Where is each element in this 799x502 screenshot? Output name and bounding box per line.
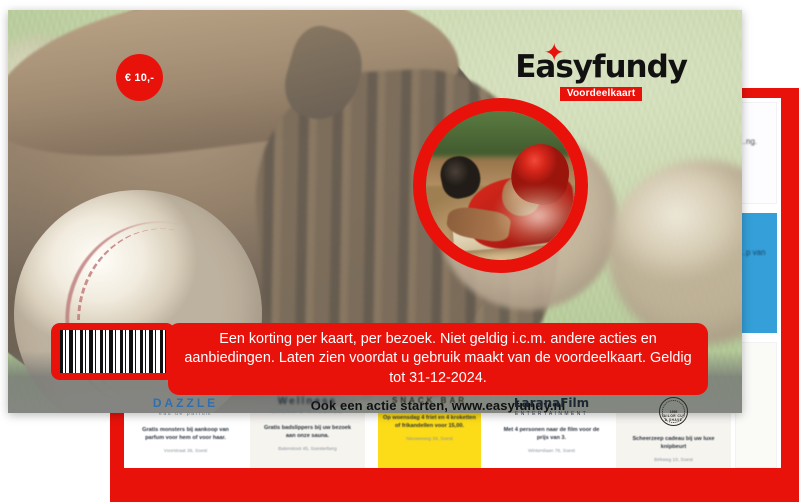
coupon-sublogo: eau de parfum (134, 411, 237, 417)
coupon-card[interactable]: DAZZLE eau de parfum Gratis monsters bij… (128, 390, 243, 468)
coupon-description: Scheerzeep cadeau bij uw luxe knipbeurt (622, 435, 725, 451)
coupon-logo: TAILOR CUT & SHAVE (660, 414, 687, 422)
brand-tagline: Voordeelkaart (560, 87, 643, 101)
coupon-card[interactable]: 1995 TAILOR CUT & SHAVE Scheerzeep cadea… (616, 390, 731, 468)
coupon-logo: LaranaFilm (500, 397, 603, 409)
coupon-logo: DAZZLE (134, 397, 237, 409)
barber-stamp-icon: 1995 TAILOR CUT & SHAVE (659, 397, 688, 426)
coupon-address: Birkweg 10, Soest (622, 458, 725, 463)
coupon-address: Voorstraat 39, Soest (134, 449, 237, 454)
coupon-description: Gratis monsters bij aankoop van parfum v… (134, 426, 237, 442)
coupon-logo: SNACK BAR (378, 397, 481, 405)
background-chip-text: …p van (736, 214, 776, 258)
brand-logo[interactable]: ✦ Easyfundy Voordeelkaart (515, 52, 687, 101)
brand-name: Easyfundy (515, 52, 687, 83)
player-photo (426, 111, 575, 260)
background-coupon-row: DAZZLE eau de parfum Gratis monsters bij… (124, 390, 735, 468)
coupon-card[interactable]: SNACK BAR Op woensdag 4 friet en 4 kroke… (372, 390, 487, 468)
dust-cloud (495, 186, 575, 246)
background-chip-text (736, 343, 776, 377)
coupon-card[interactable]: LaranaFilm ENTERTAINMENT Met 4 personen … (494, 390, 609, 468)
circle-photo-frame (413, 98, 588, 273)
coupon-logo: Wellness (256, 397, 359, 407)
coupon-address: Nieuweweg 39, Soest (378, 437, 481, 442)
background-chip-text: …ng. (736, 103, 776, 147)
coupon-address: Winterslaan 78, Soest (500, 449, 603, 454)
coupon-description: Op woensdag 4 friet en 4 kroketten of fr… (378, 414, 481, 430)
coupon-sublogo: 1995 (670, 410, 678, 414)
barcode-frame[interactable] (51, 323, 175, 380)
coupon-sublogo: ENTERTAINMENT (500, 411, 603, 417)
voucher-card-front[interactable]: € 10,- ✦ Easyfundy Voordeelkaart Een kor… (8, 10, 742, 413)
price-badge: € 10,- (116, 54, 163, 101)
coupon-card[interactable]: Wellness SAUNA & MASSAGE Gratis badslipp… (250, 390, 365, 468)
barcode-icon (60, 330, 166, 373)
coupon-sublogo: SAUNA & MASSAGE (256, 409, 359, 415)
coupon-description: Met 4 personen naar de film voor de prij… (500, 426, 603, 442)
coupon-address: Batenstoot 45, Soesterberg (256, 447, 359, 452)
coupon-description: Gratis badslippers bij uw bezoek aan onz… (256, 424, 359, 440)
terms-block: Een korting per kaart, per bezoek. Niet … (168, 323, 708, 395)
